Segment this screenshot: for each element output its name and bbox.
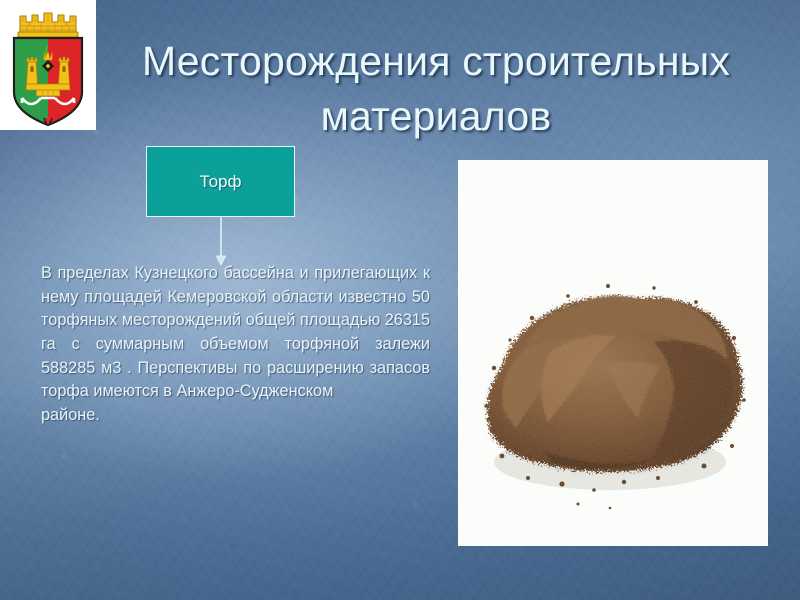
coat-of-arms-emblem bbox=[0, 0, 96, 130]
body-text-last-line: районе. bbox=[41, 404, 430, 428]
body-text-main: В пределах Кузнецкого бассейна и прилега… bbox=[41, 264, 430, 400]
arrow-down-icon bbox=[212, 217, 230, 267]
body-text: В пределах Кузнецкого бассейна и прилега… bbox=[41, 262, 430, 427]
coat-of-arms-icon bbox=[0, 0, 96, 130]
peat-pile-image bbox=[458, 160, 768, 546]
page-title: Месторождения строительных материалов bbox=[104, 34, 768, 144]
presentation-slide: Месторождения строительных материалов То… bbox=[0, 0, 800, 600]
callout-box-torf[interactable]: Торф bbox=[146, 146, 295, 217]
peat-photo bbox=[458, 160, 768, 546]
callout-label: Торф bbox=[200, 172, 242, 192]
connector-arrow bbox=[212, 217, 230, 267]
